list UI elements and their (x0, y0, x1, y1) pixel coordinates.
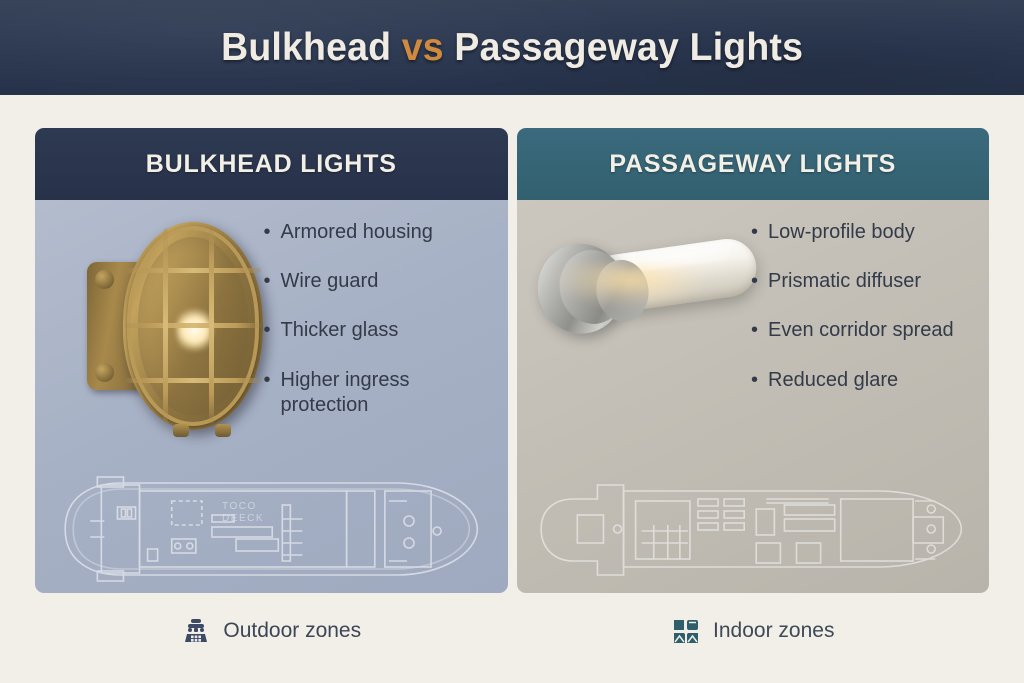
bulkhead-foot (215, 424, 231, 437)
list-item: • Reduced glare (751, 368, 981, 393)
panel-passageway-heading: PASSAGEWAY LIGHTS (609, 150, 896, 179)
bullet-marker-icon: • (264, 269, 271, 294)
bulkhead-foot (173, 424, 189, 437)
bulkhead-housing (123, 222, 263, 430)
footer-outdoor: Outdoor zones (35, 600, 508, 662)
title-part-two: Passageway Lights (454, 26, 803, 69)
cage-bar-vertical (163, 228, 168, 424)
bulkhead-wire-cage (123, 222, 263, 430)
bullet-marker-icon: • (264, 368, 271, 418)
list-item-label: Even corridor spread (768, 318, 981, 343)
footer-outdoor-label: Outdoor zones (223, 619, 361, 643)
cage-bar-horizontal (125, 378, 261, 383)
list-item: • Armored housing (264, 220, 494, 245)
panel-bulkhead-header: BULKHEAD LIGHTS (35, 128, 508, 200)
list-item: • Wire guard (264, 269, 494, 294)
panel-bulkhead: BULKHEAD LIGHTS (35, 128, 508, 593)
list-item: • Prismatic diffuser (751, 269, 981, 294)
header-band: Bulkhead vs Passageway Lights (0, 0, 1024, 95)
passageway-lamp-glow (533, 264, 749, 342)
list-item: • Thicker glass (264, 318, 494, 343)
footer-captions: Outdoor zones (35, 600, 989, 662)
panel-passageway: PASSAGEWAY LIGHTS (517, 128, 990, 593)
cage-bar-horizontal (125, 323, 261, 328)
bullet-marker-icon: • (751, 318, 758, 343)
bullet-marker-icon: • (751, 368, 758, 393)
cage-bar-horizontal (125, 268, 261, 273)
list-item-label: Thicker glass (281, 318, 494, 343)
bullet-marker-icon: • (264, 318, 271, 343)
list-item-label: Higher ingress protection (281, 368, 494, 418)
list-item-label: Reduced glare (768, 368, 981, 393)
bulkhead-feature-list: • Armored housing • Wire guard • Thicker… (264, 220, 494, 418)
list-item-label: Wire guard (281, 269, 494, 294)
bullet-marker-icon: • (751, 220, 758, 245)
list-item: • Even corridor spread (751, 318, 981, 343)
list-item: • Low-profile body (751, 220, 981, 245)
infographic-page: Bulkhead vs Passageway Lights BULKHEAD L… (0, 0, 1024, 683)
passageway-ship-blueprint (517, 465, 990, 593)
title-part-one: Bulkhead (221, 26, 391, 69)
bulkhead-lamp-illustration (87, 222, 263, 430)
list-item: • Higher ingress protection (264, 368, 494, 418)
list-item-label: Low-profile body (768, 220, 981, 245)
blueprint-label-text: TOCO (222, 501, 257, 512)
cage-bar-vertical (209, 228, 214, 424)
comparison-panels: BULKHEAD LIGHTS (35, 128, 989, 593)
panel-passageway-body: • Low-profile body • Prismatic diffuser … (517, 200, 990, 593)
corridor-grid-icon (671, 616, 701, 646)
page-title: Bulkhead vs Passageway Lights (221, 26, 803, 70)
list-item-label: Armored housing (281, 220, 494, 245)
footer-indoor-label: Indoor zones (713, 619, 834, 643)
bullet-marker-icon: • (751, 269, 758, 294)
bulkhead-ship-blueprint: TOCO DEECK (35, 465, 508, 593)
svg-text:DEECK: DEECK (222, 513, 264, 524)
passageway-feature-list: • Low-profile body • Prismatic diffuser … (751, 220, 981, 393)
panel-passageway-header: PASSAGEWAY LIGHTS (517, 128, 990, 200)
list-item-label: Prismatic diffuser (768, 269, 981, 294)
footer-indoor: Indoor zones (517, 600, 990, 662)
ship-superstructure-icon (181, 616, 211, 646)
panel-bulkhead-body: • Armored housing • Wire guard • Thicker… (35, 200, 508, 593)
title-vs: vs (402, 26, 444, 69)
bullet-marker-icon: • (264, 220, 271, 245)
panel-bulkhead-heading: BULKHEAD LIGHTS (146, 150, 397, 179)
